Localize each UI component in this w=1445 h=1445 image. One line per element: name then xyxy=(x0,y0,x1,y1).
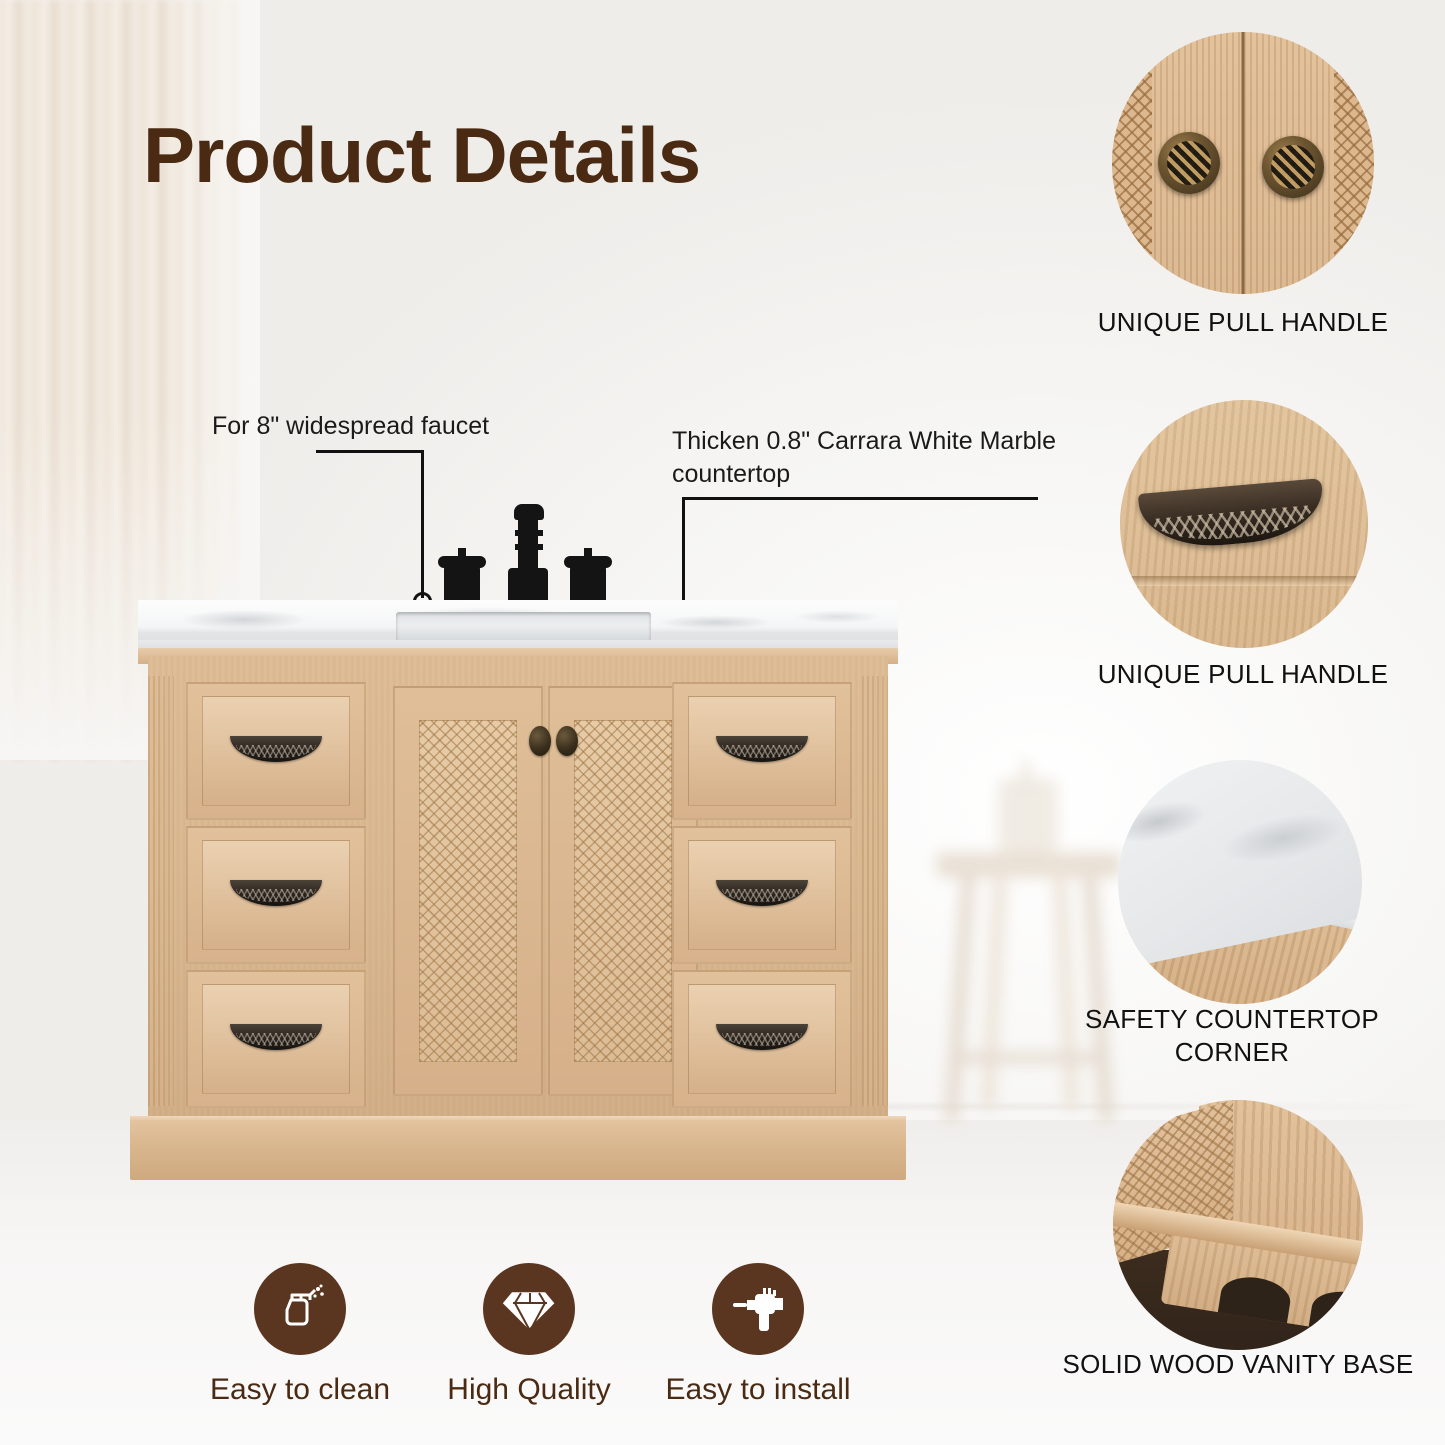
door-knob-left xyxy=(529,726,551,756)
drawer-right-2 xyxy=(672,826,852,964)
cup-pull-handle xyxy=(230,1024,322,1050)
cup-pull-handle xyxy=(716,736,808,762)
detail-caption-cup-pull: UNIQUE PULL HANDLE xyxy=(1043,658,1443,691)
drawer-left-2 xyxy=(186,826,366,964)
feature-label: High Quality xyxy=(414,1373,644,1407)
vanity-base-plinth xyxy=(130,1120,906,1180)
drill-icon xyxy=(712,1263,804,1355)
feature-easy-to-install: Easy to install xyxy=(643,1263,873,1407)
detail-photo-countertop-corner xyxy=(1118,760,1362,1004)
product-details-infographic: Product Details For 8" widespread faucet… xyxy=(0,0,1445,1445)
feature-easy-to-clean: Easy to clean xyxy=(185,1263,415,1407)
widespread-faucet xyxy=(408,500,638,610)
drawer-left-3 xyxy=(186,970,366,1108)
spray-bottle-icon xyxy=(254,1263,346,1355)
cabinet-door-left xyxy=(393,686,543,1096)
page-title: Product Details xyxy=(143,110,700,201)
door-knob-right xyxy=(556,726,578,756)
cane-panel xyxy=(574,720,672,1062)
detail-photo-unique-pull-handle-cup xyxy=(1120,400,1368,648)
cup-pull-handle xyxy=(230,880,322,906)
detail-photo-unique-pull-handle-knobs xyxy=(1112,32,1374,294)
drawer-left-1 xyxy=(186,682,366,820)
cabinet-side-right xyxy=(862,676,888,1106)
cabinet-body xyxy=(148,656,888,1126)
feature-high-quality: High Quality xyxy=(414,1263,644,1407)
detail-caption-knobs: UNIQUE PULL HANDLE xyxy=(1043,306,1443,339)
feature-label: Easy to install xyxy=(643,1373,873,1407)
cane-panel xyxy=(419,720,517,1062)
callout-faucet-label: For 8" widespread faucet xyxy=(212,410,489,443)
detail-photo-vanity-base xyxy=(1113,1100,1363,1350)
diamond-icon xyxy=(483,1263,575,1355)
drawer-right-3 xyxy=(672,970,852,1108)
detail-caption-countertop-corner: SAFETY COUNTERTOP CORNER xyxy=(1032,1003,1432,1070)
cup-pull-handle xyxy=(230,736,322,762)
cup-pull-handle xyxy=(716,1024,808,1050)
feature-label: Easy to clean xyxy=(185,1373,415,1407)
cabinet-side-left xyxy=(148,676,174,1106)
detail-caption-vanity-base: SOLID WOOD VANITY BASE xyxy=(1038,1348,1438,1381)
cup-pull-handle xyxy=(716,880,808,906)
vanity-product-image xyxy=(108,470,938,1190)
background-stool xyxy=(930,760,1130,1180)
drawer-right-1 xyxy=(672,682,852,820)
